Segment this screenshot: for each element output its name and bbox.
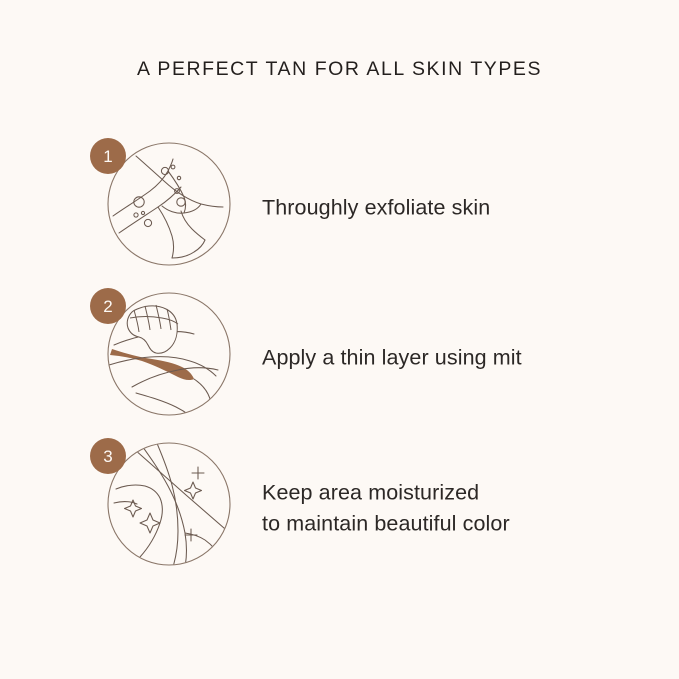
list-item: 2 Apply a thin layer using mit (0, 283, 679, 433)
step-3-label: Keep area moisturized to maintain beauti… (262, 477, 510, 538)
infographic-page: A PERFECT TAN FOR ALL SKIN TYPES (0, 0, 679, 679)
step-1-label: Throughly exfoliate skin (262, 193, 490, 224)
list-item: 1 Throughly exfoliate skin (0, 133, 679, 283)
step-2-label: Apply a thin layer using mit (262, 343, 522, 374)
step-1-number-badge: 1 (90, 138, 126, 174)
page-title: A PERFECT TAN FOR ALL SKIN TYPES (0, 58, 679, 81)
list-item: 3 Keep area moisturized to maintain beau… (0, 433, 679, 583)
step-3-number-badge: 3 (90, 438, 126, 474)
step-2-number-badge: 2 (90, 288, 126, 324)
steps-list: 1 Throughly exfoliate skin (0, 133, 679, 583)
